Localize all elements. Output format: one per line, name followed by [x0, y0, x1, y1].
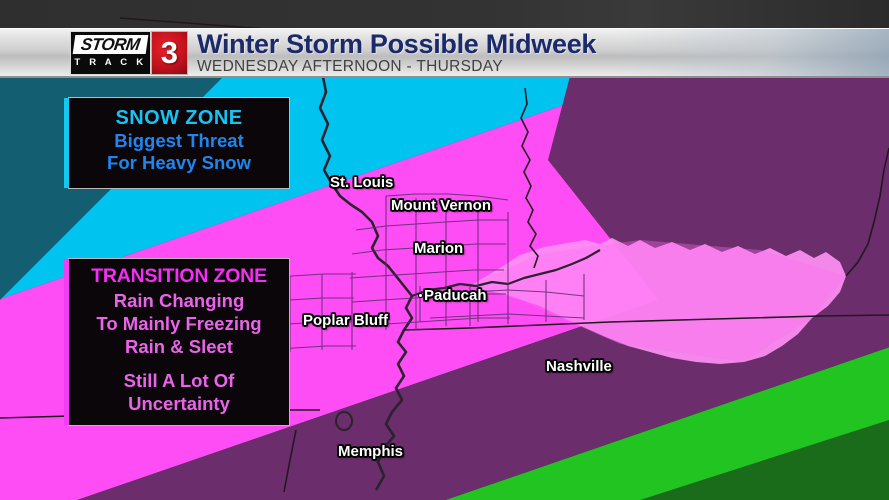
- transition-zone-line-4: Still A Lot Of: [69, 369, 289, 392]
- banner-headline: Winter Storm Possible Midweek: [197, 30, 596, 58]
- logo-channel-3-badge: 3: [151, 31, 188, 75]
- snow-zone-line-2: For Heavy Snow: [69, 152, 289, 174]
- callout-accent-bar-transition: [64, 259, 69, 425]
- city-label-memphis: Memphis: [338, 444, 403, 459]
- snow-zone-line-1: Biggest Threat: [69, 130, 289, 152]
- transition-zone-heading: TRANSITION ZONE: [69, 264, 289, 289]
- city-label-paducah: Paducah: [424, 288, 487, 303]
- weather-graphic: Springfield St. Louis Mount Vernon Mario…: [0, 0, 889, 500]
- snow-zone-heading: SNOW ZONE: [69, 106, 289, 130]
- callout-snow-zone: SNOW ZONE Biggest Threat For Heavy Snow: [68, 97, 290, 189]
- transition-zone-line-3: Rain & Sleet: [69, 335, 289, 358]
- callout-accent-bar-snow: [64, 98, 69, 188]
- city-label-st-louis: St. Louis: [330, 175, 393, 190]
- city-label-mount-vernon: Mount Vernon: [391, 198, 491, 213]
- logo-wordmark: STORM T R A C K: [70, 31, 151, 75]
- river-mississippi: [320, 72, 412, 490]
- transition-zone-line-5: Uncertainty: [69, 392, 289, 415]
- city-label-poplar-bluff: Poplar Bluff: [303, 313, 388, 328]
- transition-zone-spacer: [69, 358, 289, 369]
- transition-zone-line-2: To Mainly Freezing: [69, 312, 289, 335]
- city-label-marion: Marion: [414, 241, 463, 256]
- city-label-nashville: Nashville: [546, 359, 612, 374]
- banner-subheadline: WEDNESDAY AFTERNOON - THURSDAY: [197, 59, 596, 75]
- logo-storm-text: STORM: [73, 35, 148, 54]
- city-dot-paducah: [418, 293, 423, 298]
- river-oxbow: [336, 412, 352, 430]
- storm-track-3-logo: STORM T R A C K 3: [70, 31, 188, 75]
- logo-channel-number: 3: [161, 37, 178, 68]
- banner-text-block: Winter Storm Possible Midweek WEDNESDAY …: [197, 30, 596, 75]
- header-banner: STORM T R A C K 3 Winter Storm Possible …: [0, 28, 889, 78]
- transition-zone-line-1: Rain Changing: [69, 289, 289, 312]
- logo-track-text: T R A C K: [74, 54, 147, 70]
- callout-transition-zone: TRANSITION ZONE Rain Changing To Mainly …: [68, 258, 290, 426]
